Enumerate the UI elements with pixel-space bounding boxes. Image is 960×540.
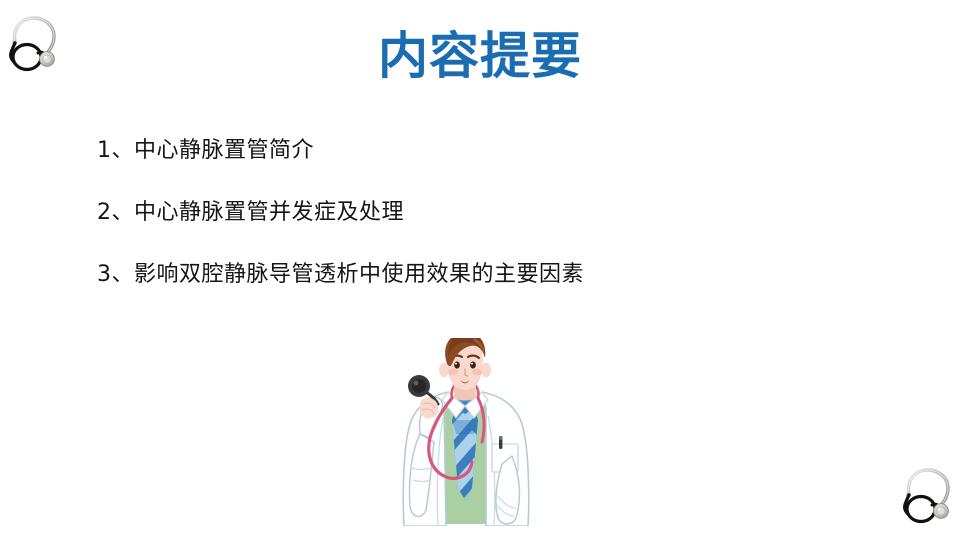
doctor-with-stethoscope-illustration — [386, 338, 544, 526]
slide-canvas: 内容提要 1、中心静脉置管简介 2、中心静脉置管并发症及处理 3、影响双腔静脉导… — [0, 0, 960, 540]
list-item: 2、中心静脉置管并发症及处理 — [97, 198, 897, 228]
agenda-list: 1、中心静脉置管简介 2、中心静脉置管并发症及处理 3、影响双腔静脉导管透析中使… — [97, 136, 897, 290]
list-item: 1、中心静脉置管简介 — [97, 136, 897, 166]
stethoscope-icon — [896, 464, 958, 530]
stethoscope-icon — [2, 12, 64, 78]
page-title: 内容提要 — [0, 26, 960, 86]
list-item: 3、影响双腔静脉导管透析中使用效果的主要因素 — [97, 260, 897, 290]
